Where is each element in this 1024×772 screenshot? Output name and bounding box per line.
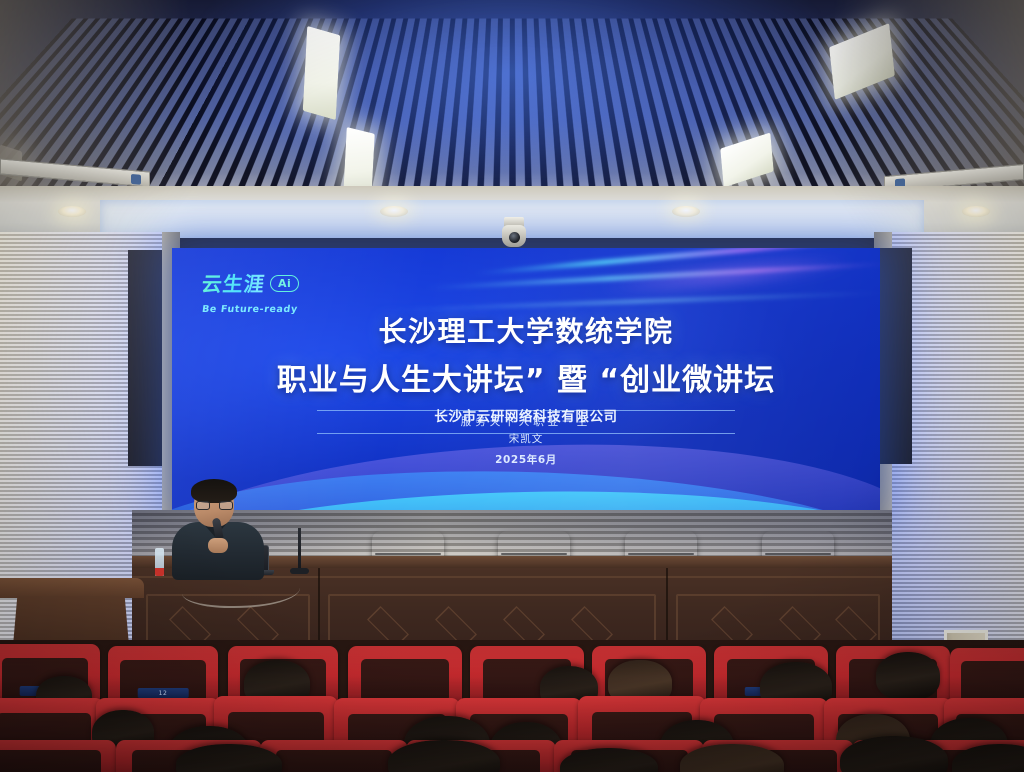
ceiling — [0, 0, 1024, 196]
seat-number: 12 — [138, 688, 189, 698]
gooseneck-microphone — [298, 528, 301, 572]
presenter-hair — [191, 479, 237, 503]
audience-seat — [348, 646, 462, 706]
downlight — [672, 206, 700, 217]
wall-speaker-right — [878, 248, 912, 464]
audience-seat — [0, 740, 116, 772]
slide-presenter-name: 宋凯文 — [172, 431, 880, 446]
downlight — [380, 206, 408, 217]
slide-organization: 长沙市云研网络科技有限公司 — [172, 405, 880, 425]
brand-name-cn: 云生涯 — [200, 268, 267, 297]
downlight — [962, 206, 990, 217]
ptz-camera-icon — [502, 217, 526, 251]
slide-date: 2025年6月 — [172, 452, 880, 467]
brand-logo: 云生涯Ai Be Future-ready — [202, 268, 299, 316]
audience-head — [876, 652, 940, 700]
downlight — [58, 206, 86, 217]
led-screen: 云生涯Ai Be Future-ready 长沙理工大学数统学院 职业与人生大讲… — [172, 248, 880, 510]
audience-seat — [260, 740, 408, 772]
slide-title-line-2: 职业与人生大讲坛” 暨 “创业微讲坛 — [172, 355, 880, 399]
audience-seating: 12 12 06 12 06 — [0, 640, 1024, 772]
slide-meta-block: 长沙市云研网络科技有限公司 宋凯文 2025年6月 — [172, 405, 880, 467]
presenter-hand — [208, 538, 228, 553]
slide-title-line-1: 长沙理工大学数统学院 — [172, 310, 880, 350]
ai-badge-icon: Ai — [270, 275, 299, 292]
ceiling-light-panel — [303, 26, 341, 120]
presenter — [172, 482, 264, 574]
water-bottle — [155, 548, 164, 576]
wall-speaker-left — [128, 250, 162, 466]
glasses-icon — [196, 501, 233, 510]
lecture-hall-photo: 云生涯Ai Be Future-ready 长沙理工大学数统学院 职业与人生大讲… — [0, 0, 1024, 772]
